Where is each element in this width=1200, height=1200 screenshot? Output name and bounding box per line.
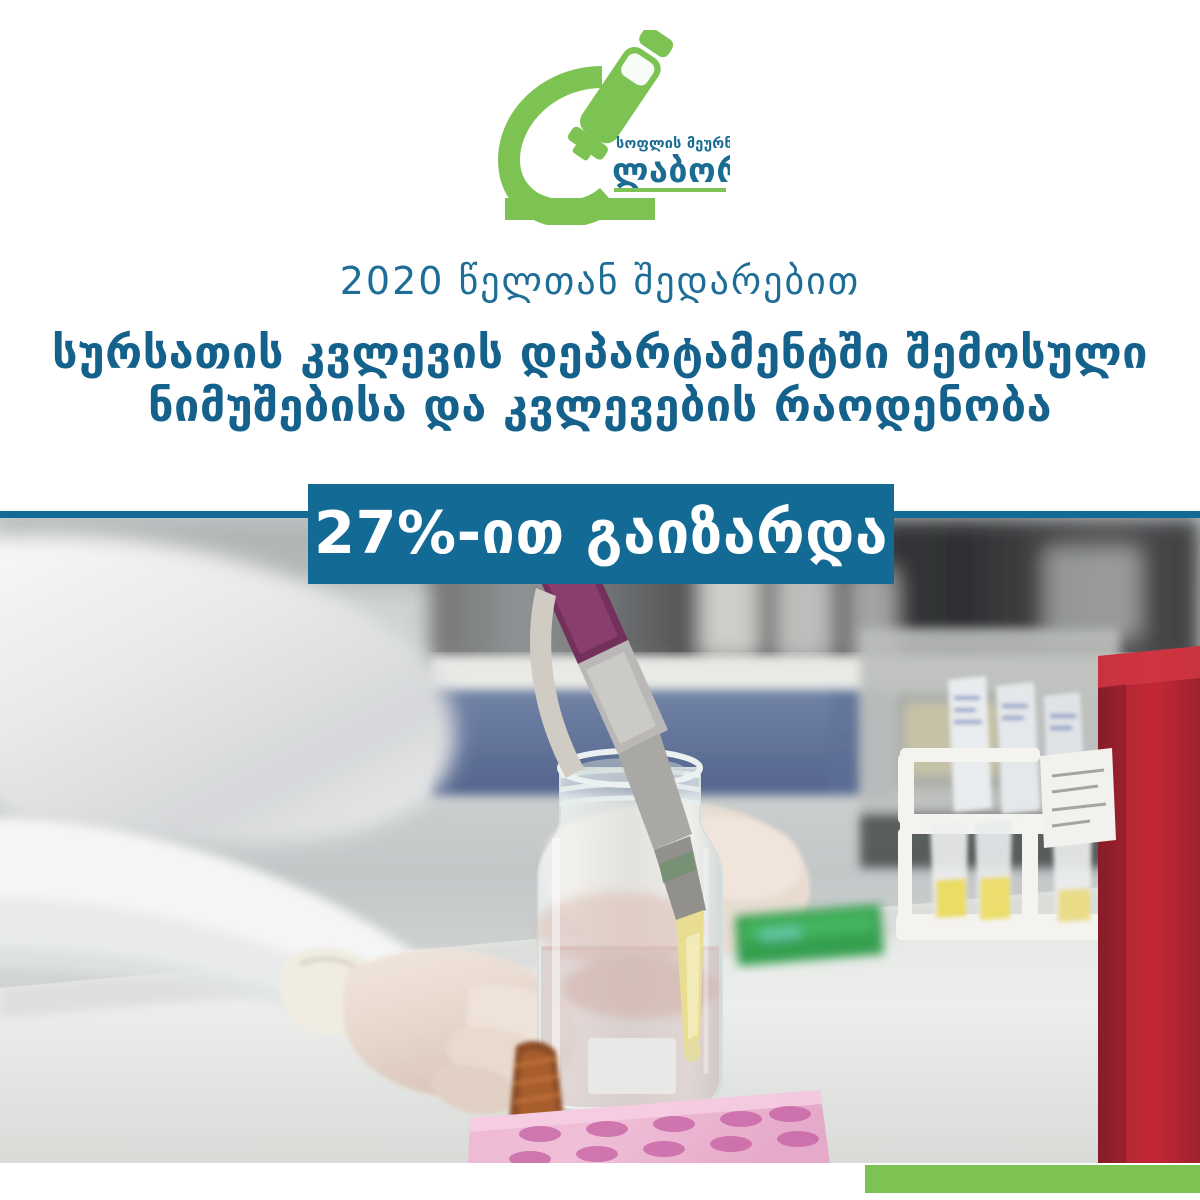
lab-photo-illustration xyxy=(0,518,1200,1163)
infographic-poster: სოფლის მეურნეობის სახელმწიფო ლაბორატორია… xyxy=(0,0,1200,1200)
page-title: სურსათის კვლევის დეპარტამენტში შემოსული … xyxy=(0,326,1200,432)
headline-line-2: ნიმუშებისა და კვლევების რაოდენობა xyxy=(0,379,1200,432)
logo-wordmark: ლაბორატორია xyxy=(612,151,730,191)
stat-value-text: 27%-ით გაიზარდა xyxy=(314,503,888,562)
headline-line-1: სურსათის კვლევის დეპარტამენტში შემოსული xyxy=(0,326,1200,379)
brand-logo: სოფლის მეურნეობის სახელმწიფო ლაბორატორია xyxy=(0,22,1200,232)
logo-tagline: სოფლის მეურნეობის სახელმწიფო xyxy=(616,136,730,152)
logo-underline xyxy=(614,188,726,192)
lab-photo xyxy=(0,518,1200,1163)
status-badge: 27%-ით გაიზარდა xyxy=(308,484,894,584)
kicker-text: 2020 წელთან შედარებით xyxy=(0,262,1200,300)
footer-accent-bar xyxy=(865,1165,1200,1193)
microscope-icon: სოფლის მეურნეობის სახელმწიფო ლაბორატორია xyxy=(470,30,730,225)
